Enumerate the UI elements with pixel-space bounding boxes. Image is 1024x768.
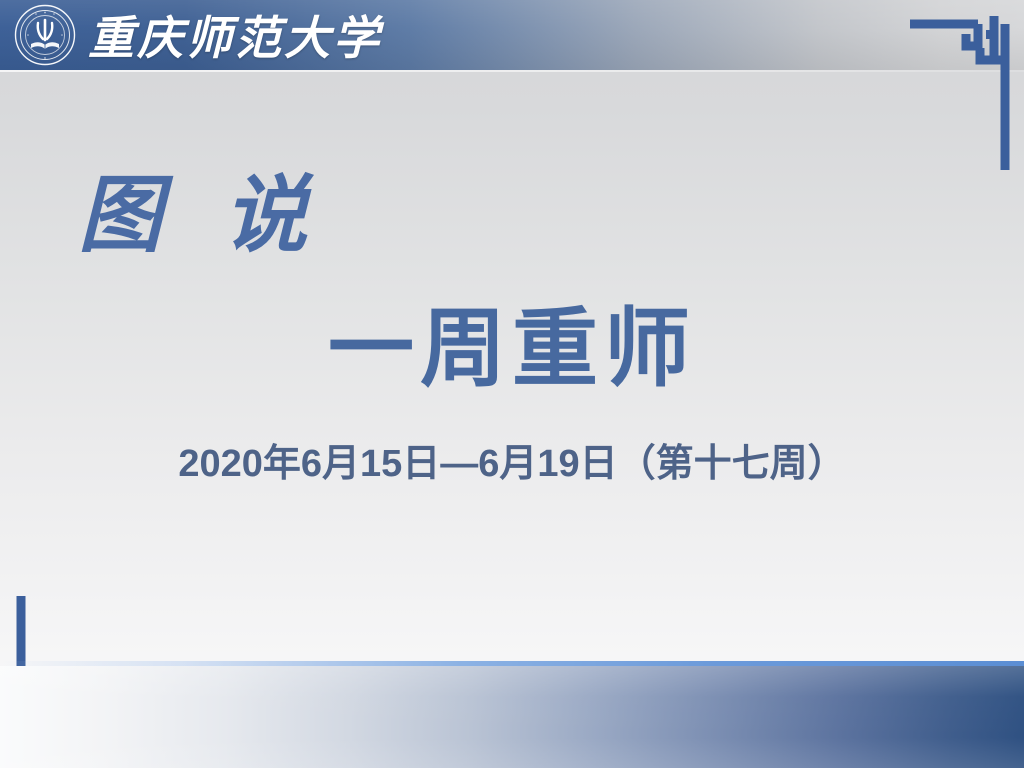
main-title: 一周重师 — [0, 278, 1024, 403]
footer-band-gloss — [0, 666, 1024, 768]
meander-corner-ornament-top-right — [906, 6, 1016, 174]
university-emblem-icon — [14, 4, 76, 66]
header-underline — [0, 70, 1024, 72]
date-range-subtitle: 2020年6月15日—6月19日（第十七周） — [0, 432, 1024, 487]
presentation-slide: 重庆师范大学 — [0, 0, 1024, 768]
university-name: 重庆师范大学 — [88, 3, 382, 67]
footer-band — [0, 666, 1024, 768]
brush-calligraphy-title: 图 说 — [78, 148, 323, 269]
